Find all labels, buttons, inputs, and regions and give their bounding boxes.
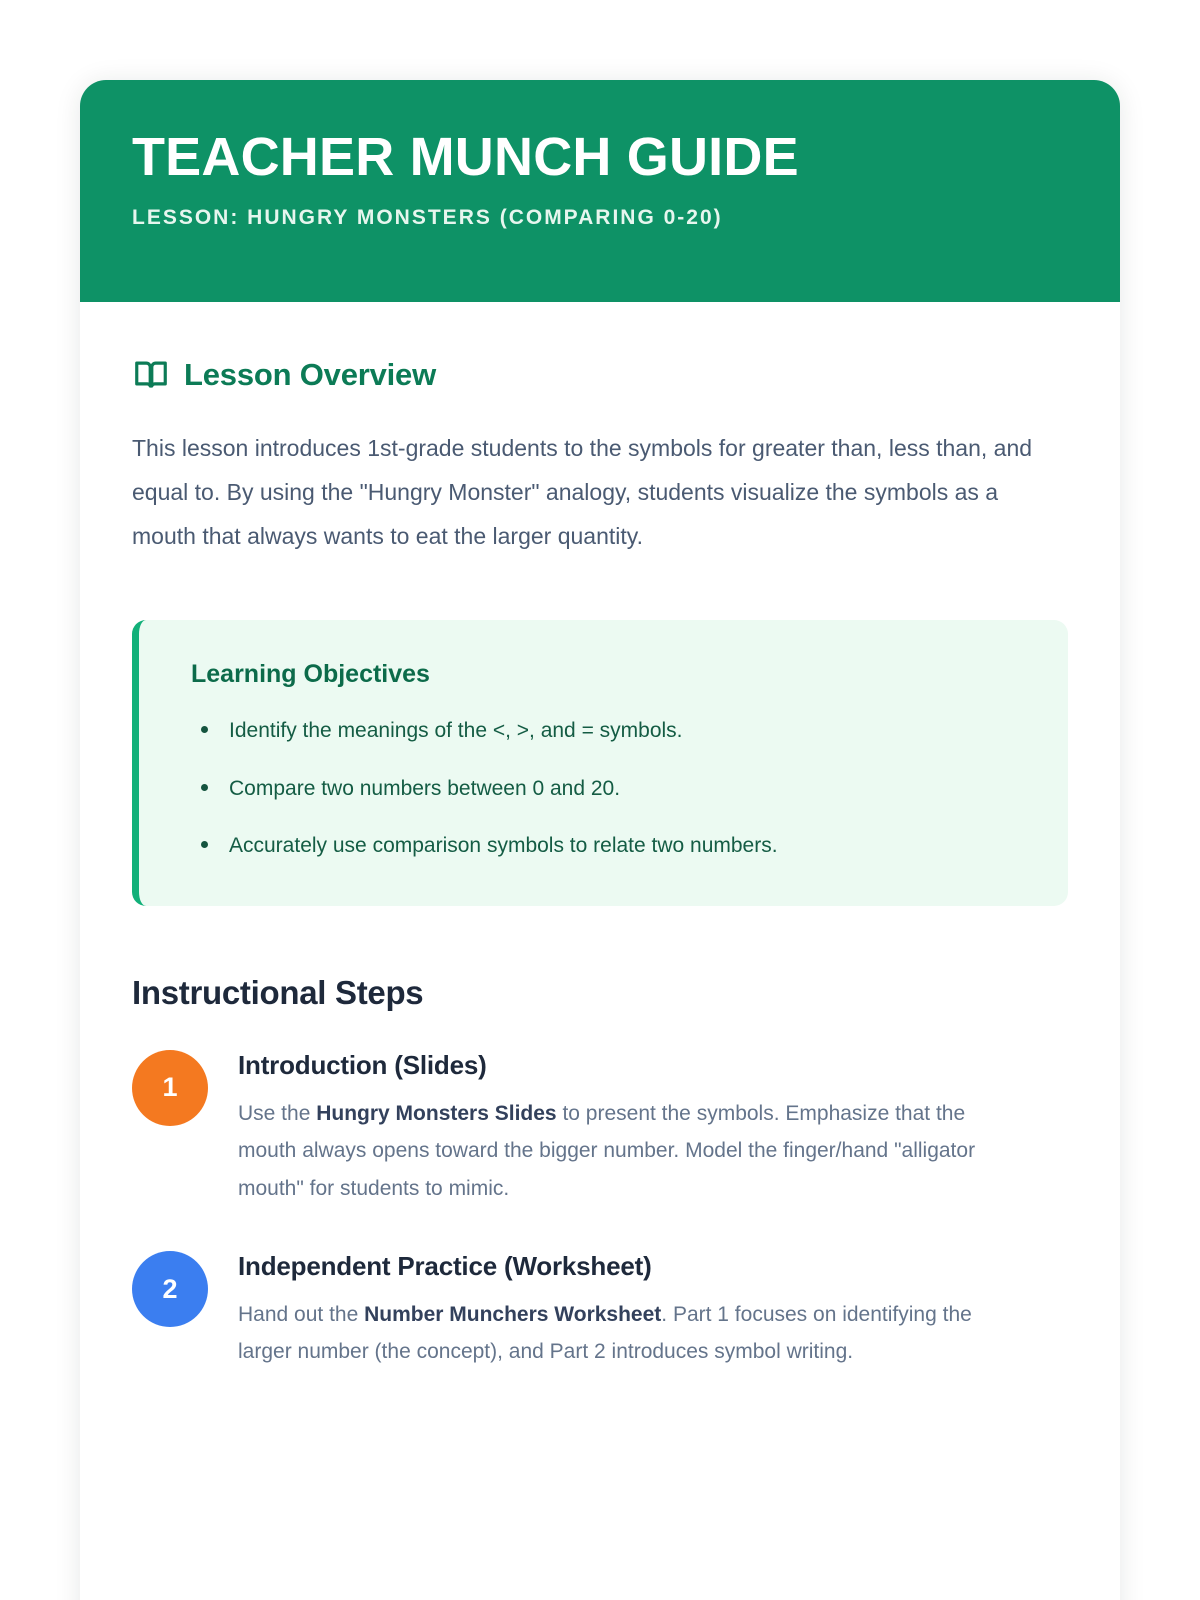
list-item: Identify the meanings of the <, >, and =… (191, 715, 1024, 747)
page-title: TEACHER MUNCH GUIDE (132, 128, 1068, 186)
page-subtitle: LESSON: HUNGRY MONSTERS (COMPARING 0-20) (132, 206, 1068, 230)
lesson-overview-paragraph: This lesson introduces 1st-grade student… (132, 426, 1047, 558)
step-text-highlight: Number Munchers Worksheet (364, 1303, 661, 1326)
bullet-icon (201, 784, 208, 791)
lesson-overview-heading: Lesson Overview (132, 356, 1068, 394)
step-number-badge: 1 (132, 1050, 208, 1126)
list-item: Compare two numbers between 0 and 20. (191, 773, 1024, 805)
card-header: TEACHER MUNCH GUIDE LESSON: HUNGRY MONST… (80, 80, 1120, 302)
step-description: Hand out the Number Munchers Worksheet. … (238, 1296, 1028, 1371)
step-content: Introduction (Slides) Use the Hungry Mon… (238, 1048, 1068, 1207)
section-title-lesson-overview: Lesson Overview (184, 357, 436, 393)
objective-text: Accurately use comparison symbols to rel… (229, 834, 778, 857)
objective-text: Identify the meanings of the <, >, and =… (229, 719, 683, 742)
learning-objectives-title: Learning Objectives (191, 660, 1024, 689)
instructional-step: 2 Independent Practice (Worksheet) Hand … (132, 1249, 1068, 1371)
instructional-step: 1 Introduction (Slides) Use the Hungry M… (132, 1048, 1068, 1207)
bullet-icon (201, 841, 208, 848)
open-book-icon (132, 356, 170, 394)
objective-text: Compare two numbers between 0 and 20. (229, 777, 620, 800)
section-title-instructional-steps: Instructional Steps (132, 974, 1068, 1012)
teacher-guide-card: TEACHER MUNCH GUIDE LESSON: HUNGRY MONST… (80, 80, 1120, 1600)
step-title: Introduction (Slides) (238, 1050, 1068, 1081)
step-content: Independent Practice (Worksheet) Hand ou… (238, 1249, 1068, 1371)
step-text-before: Hand out the (238, 1303, 364, 1326)
learning-objectives-list: Identify the meanings of the <, >, and =… (191, 715, 1024, 862)
step-title: Independent Practice (Worksheet) (238, 1251, 1068, 1282)
step-text-highlight: Hungry Monsters Slides (316, 1102, 556, 1125)
bullet-icon (201, 726, 208, 733)
learning-objectives-callout: Learning Objectives Identify the meaning… (132, 620, 1068, 906)
step-number-badge: 2 (132, 1251, 208, 1327)
page-root: TEACHER MUNCH GUIDE LESSON: HUNGRY MONST… (0, 0, 1200, 1600)
step-text-before: Use the (238, 1102, 316, 1125)
card-body: Lesson Overview This lesson introduces 1… (80, 302, 1120, 1473)
list-item: Accurately use comparison symbols to rel… (191, 830, 1024, 862)
step-description: Use the Hungry Monsters Slides to presen… (238, 1095, 1028, 1207)
